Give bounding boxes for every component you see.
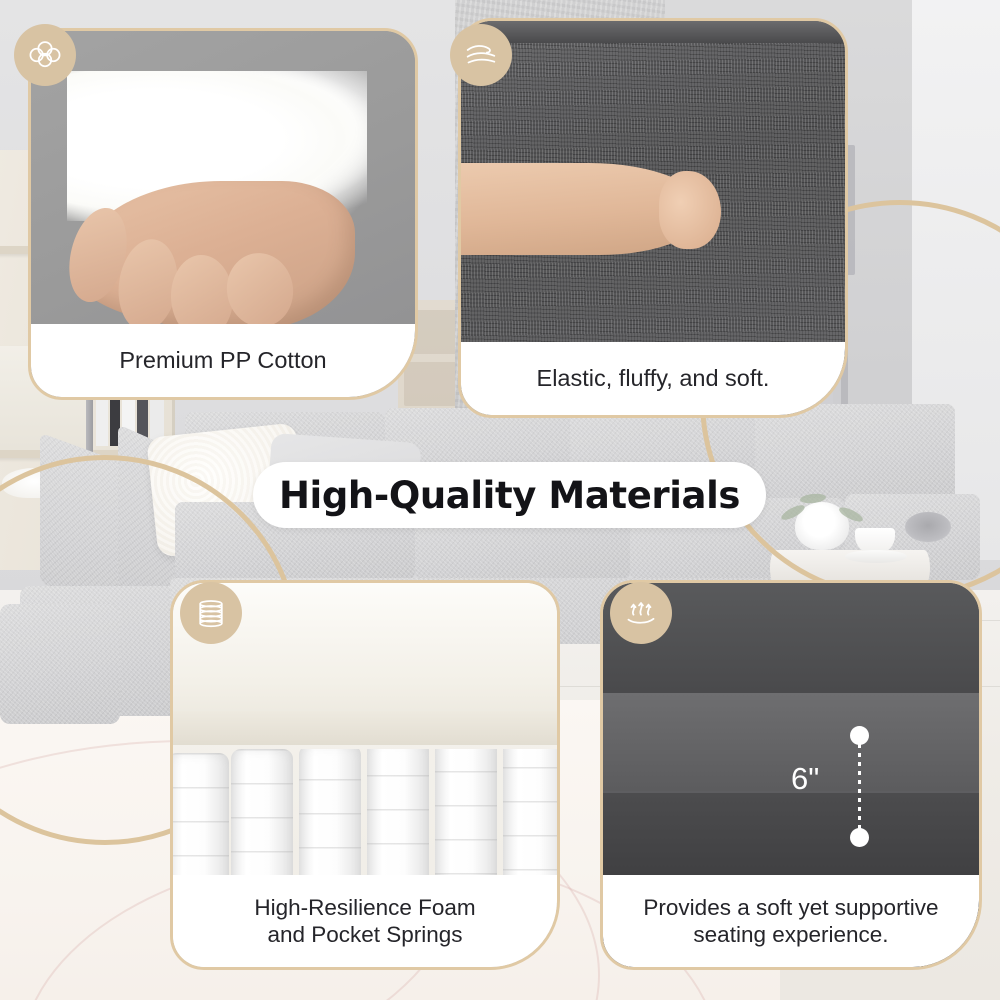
dimension-dotted-line <box>858 735 861 835</box>
card-caption-pp-cotton: Premium PP Cotton <box>31 324 415 397</box>
caption-line-2: and Pocket Springs <box>267 922 462 947</box>
saucer <box>845 550 907 563</box>
caption-text: Premium PP Cotton <box>119 346 326 375</box>
card-caption-springs: High-Resilience Foam and Pocket Springs <box>173 875 557 967</box>
soft-waves-icon <box>450 24 512 86</box>
cotton-cloud-icon <box>14 24 76 86</box>
seat-thickness-label: 6" <box>791 761 819 797</box>
caption-line-1: Provides a soft yet supportive <box>643 895 938 920</box>
card-caption-elastic: Elastic, fluffy, and soft. <box>461 342 845 415</box>
feature-card-premium-pp-cotton[interactable]: Premium PP Cotton <box>28 28 418 400</box>
dimension-dot-bottom <box>850 828 869 847</box>
banner-title-pill: High-Quality Materials <box>253 462 766 528</box>
caption-line-2: seating experience. <box>693 922 888 947</box>
breathable-icon <box>610 582 672 644</box>
feature-card-elastic-fluffy-soft[interactable]: Elastic, fluffy, and soft. <box>458 18 848 418</box>
cup-holder <box>905 512 951 542</box>
card-caption-supportive: Provides a soft yet supportive seating e… <box>603 875 979 967</box>
page-title: High-Quality Materials <box>279 474 740 517</box>
caption-line-1: High-Resilience Foam <box>254 895 475 920</box>
caption-text: Elastic, fluffy, and soft. <box>537 364 770 393</box>
dimension-dot-top <box>850 726 869 745</box>
coil-spring-icon <box>180 582 242 644</box>
